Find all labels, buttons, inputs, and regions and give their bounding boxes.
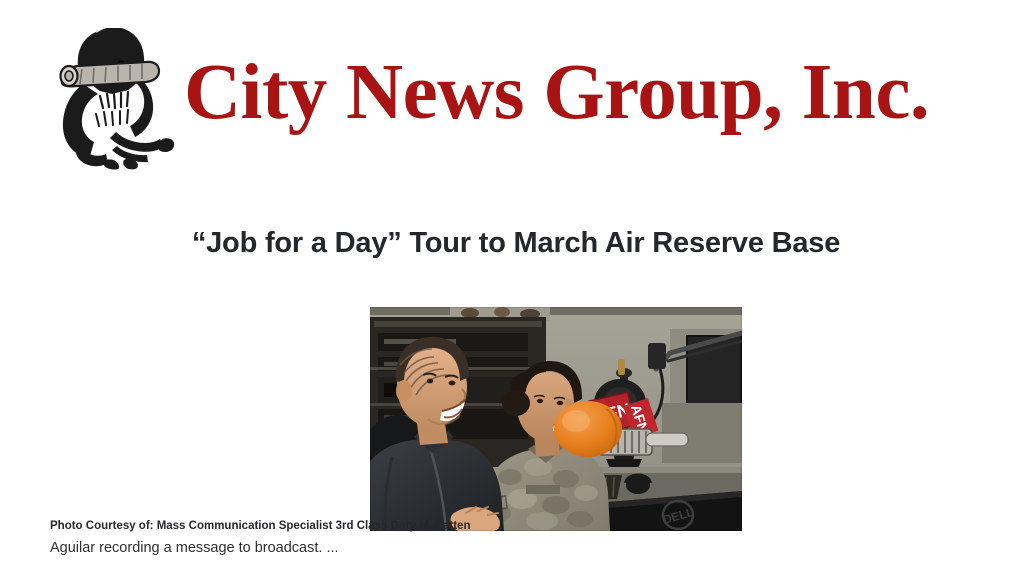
site-masthead: City News Group, Inc. [50, 20, 980, 172]
article-photo-figure: AFN AFN [370, 307, 742, 531]
photo-credit: Photo Courtesy of: Mass Communication Sp… [50, 519, 950, 534]
photo-caption-block: Photo Courtesy of: Mass Communication Sp… [50, 519, 950, 558]
site-brand-wordmark: City News Group, Inc. [184, 53, 929, 132]
article-photo: AFN AFN [370, 307, 742, 531]
photo-caption-text: Aguilar recording a message to broadcast… [50, 538, 950, 558]
dog-with-newspaper-icon [50, 22, 178, 170]
article-headline: “Job for a Day” Tour to March Air Reserv… [0, 227, 1032, 260]
